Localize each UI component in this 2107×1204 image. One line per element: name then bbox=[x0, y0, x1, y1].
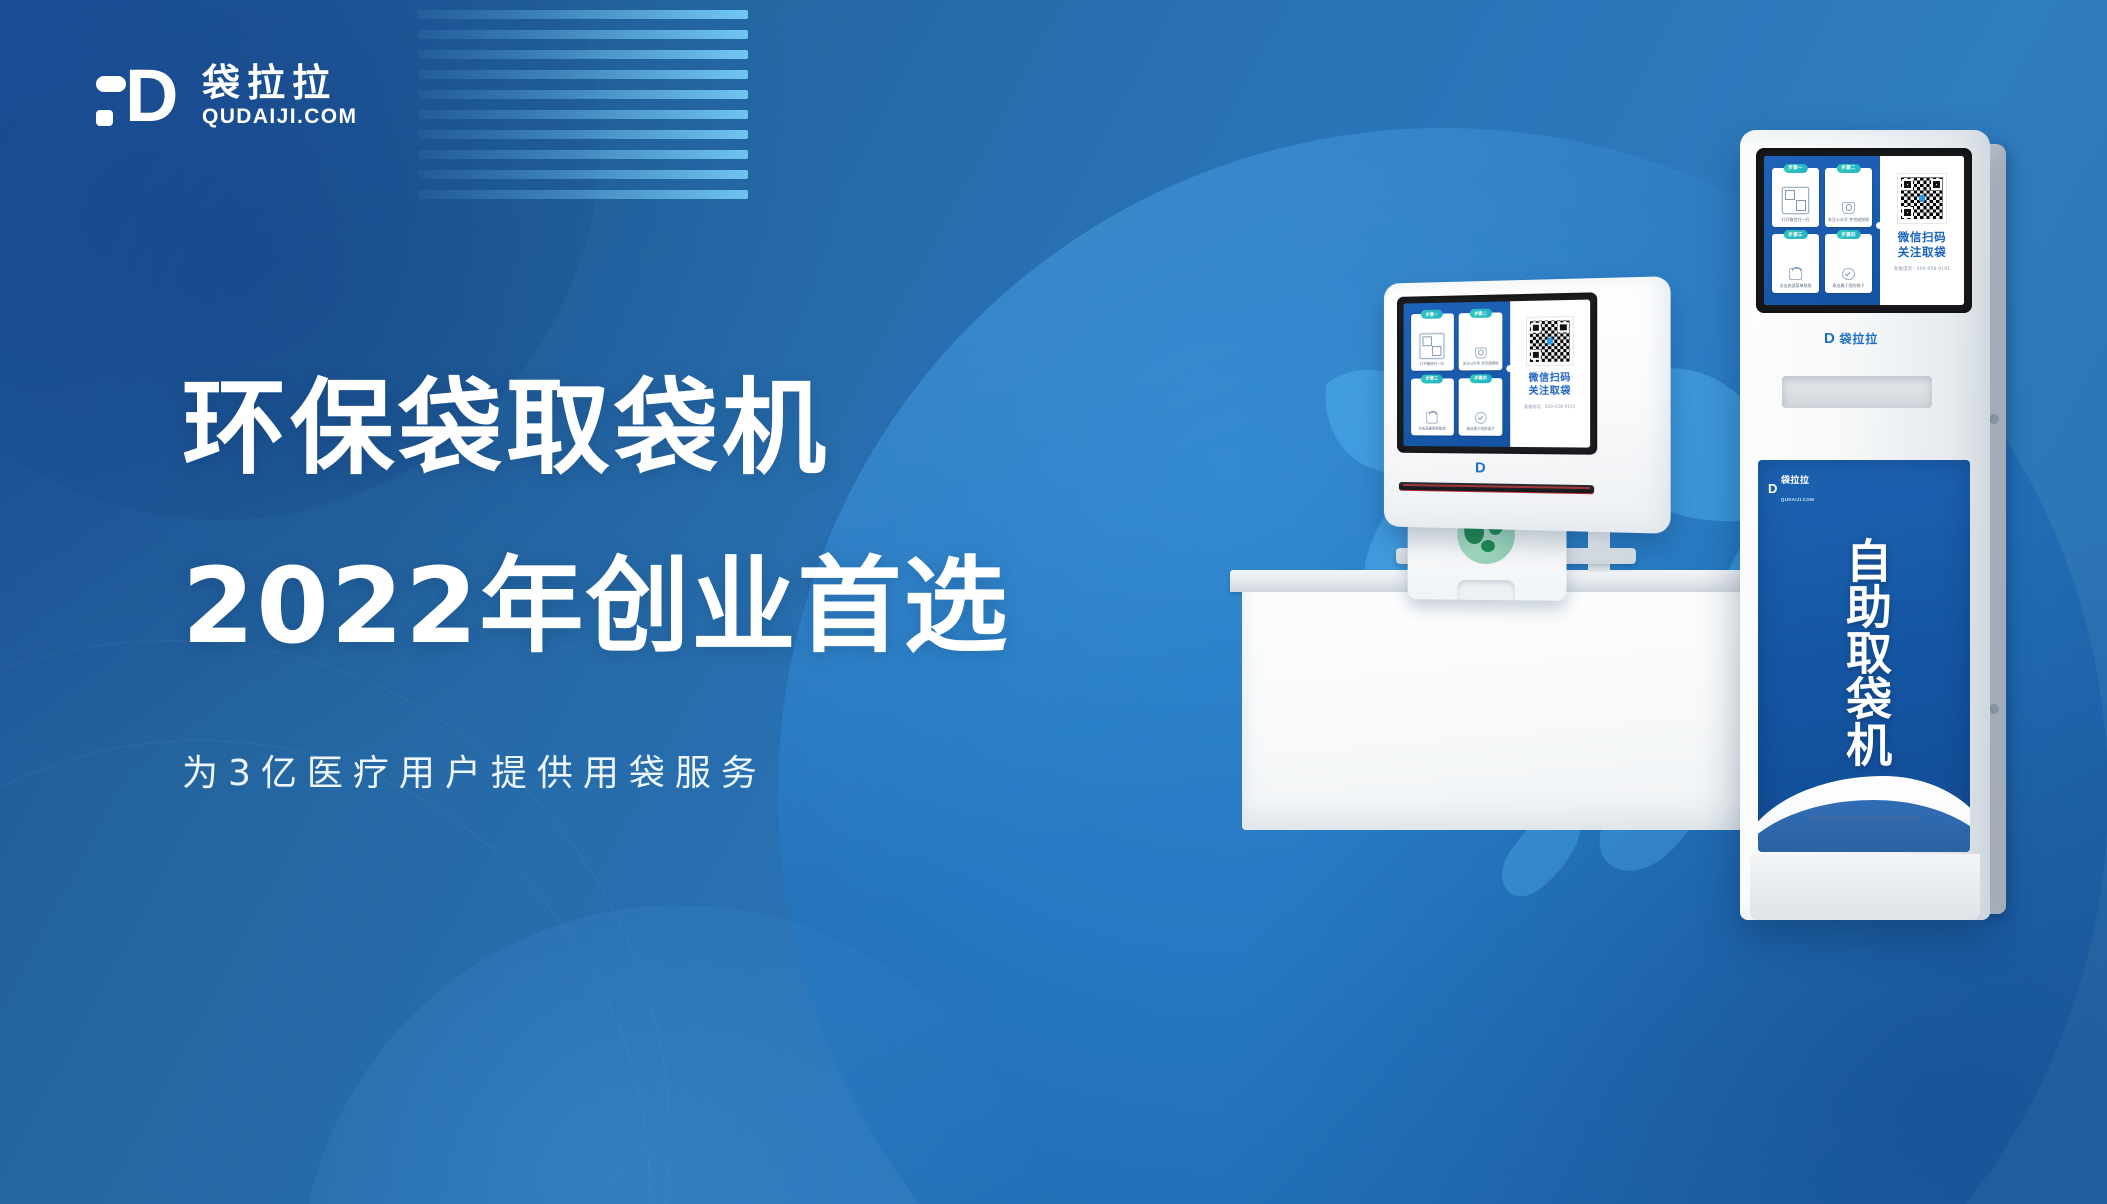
check-circle-icon bbox=[1475, 412, 1486, 424]
kiosk-logo-name: 袋拉拉 bbox=[1839, 330, 1878, 347]
step-tag: 步骤一 bbox=[1783, 164, 1807, 173]
step-caption: 点击底部菜单取袋 bbox=[1416, 426, 1448, 431]
hero-banner: D 袋拉拉 QUDAIJI.COM 环保袋取袋机 2022年创业首选 为3亿医疗… bbox=[0, 0, 2107, 1204]
product-scene: 爱护地球 环保先锋 步骤一 打开微信扫一扫 bbox=[1180, 140, 2100, 1140]
poster-brand-logo: D 袋拉拉 QUDAIJI.COM bbox=[1768, 470, 1814, 506]
logo-dot-shape bbox=[96, 110, 113, 126]
step-card[interactable]: 步骤一 打开微信扫一扫 bbox=[1411, 314, 1454, 371]
check-circle-icon bbox=[1842, 268, 1854, 280]
step-tag: 步骤四 bbox=[1836, 230, 1860, 239]
counter-body bbox=[1242, 592, 1782, 830]
logo-letter-d: D bbox=[125, 62, 182, 132]
step-tag: 步骤二 bbox=[1836, 164, 1860, 173]
screen-cta-line1: 微信扫码 bbox=[1898, 230, 1946, 245]
screen-cta-line2: 关注取袋 bbox=[1898, 245, 1946, 260]
kiosk-side-button-bottom[interactable] bbox=[1989, 704, 1999, 714]
logo-text-block: 袋拉拉 QUDAIJI.COM bbox=[202, 64, 357, 129]
screen-qr-panel: 微信扫码 关注取袋 客服电话：400-058-9191 bbox=[1880, 156, 1964, 305]
step-card[interactable]: 步骤二 关注公众号 并完成授权 bbox=[1459, 313, 1503, 371]
qr-code-icon bbox=[1420, 333, 1445, 359]
poster-logo-domain: QUDAIJI.COM bbox=[1781, 497, 1814, 502]
step-caption: 取出属于您的袋子 bbox=[1464, 426, 1497, 431]
kiosk-screen-bezel[interactable]: 步骤一 打开微信扫一扫 步骤二 关注公众号 并完成授权 步骤三 bbox=[1756, 148, 1972, 313]
hero-subline: 为3亿医疗用户提供用袋服务 bbox=[182, 744, 1009, 796]
striped-arc-decoration bbox=[418, 0, 748, 212]
poster-logo-name: 袋拉拉 bbox=[1781, 476, 1810, 486]
step-tag: 步骤二 bbox=[1469, 309, 1491, 318]
logo-mark-icon: D bbox=[96, 60, 182, 132]
bag-icon bbox=[1426, 412, 1437, 423]
step-caption: 关注公众号 并完成授权 bbox=[1460, 362, 1501, 367]
screen-steps-panel: 步骤一 打开微信扫一扫 步骤二 关注公众号 并完成授权 步骤三 bbox=[1404, 301, 1510, 447]
step-card[interactable]: 步骤四 取出属于您的袋子 bbox=[1825, 234, 1872, 293]
screen-cta: 微信扫码 关注取袋 bbox=[1529, 372, 1571, 399]
phone-auth-icon bbox=[1475, 347, 1486, 359]
step-card[interactable]: 步骤一 打开微信扫一扫 bbox=[1772, 168, 1819, 227]
desk-machine-screen-bezel[interactable]: 步骤一 打开微信扫一扫 步骤二 关注公众号 并完成授权 步骤三 bbox=[1397, 292, 1597, 454]
brand-logo[interactable]: D 袋拉拉 QUDAIJI.COM bbox=[96, 60, 357, 132]
step-caption: 点击底部菜单取袋 bbox=[1777, 283, 1815, 288]
step-tag: 步骤四 bbox=[1469, 374, 1491, 383]
screen-cta: 微信扫码 关注取袋 bbox=[1898, 230, 1946, 260]
wechat-qr-code[interactable] bbox=[1898, 174, 1947, 223]
hero-copy: 环保袋取袋机 2022年创业首选 为3亿医疗用户提供用袋服务 bbox=[182, 376, 1009, 796]
logo-domain: QUDAIJI.COM bbox=[202, 105, 357, 128]
kiosk-body: 步骤一 打开微信扫一扫 步骤二 关注公众号 并完成授权 步骤三 bbox=[1740, 130, 1990, 920]
kiosk-base bbox=[1750, 854, 1980, 920]
desk-machine-body: 步骤一 打开微信扫一扫 步骤二 关注公众号 并完成授权 步骤三 bbox=[1384, 276, 1671, 534]
screen-cta-line2: 关注取袋 bbox=[1529, 385, 1571, 398]
poster-footer-text: 全国统一服务热线：137-9690-0099 QUDAIJI.COM bbox=[1760, 816, 1968, 822]
step-card[interactable]: 步骤四 取出属于您的袋子 bbox=[1459, 378, 1503, 436]
kiosk-poster-panel: D 袋拉拉 QUDAIJI.COM 自助取袋机 全国统一服务热线：137-969… bbox=[1758, 460, 1970, 852]
hero-headline-line1: 环保袋取袋机 bbox=[182, 376, 1009, 480]
step-card[interactable]: 步骤三 点击底部菜单取袋 bbox=[1772, 234, 1819, 293]
step-caption: 打开微信扫一扫 bbox=[1418, 362, 1447, 367]
logo-name-cn: 袋拉拉 bbox=[202, 64, 357, 104]
step-caption: 关注公众号 并完成授权 bbox=[1825, 217, 1872, 222]
poster-logo-mark: D bbox=[1768, 481, 1777, 496]
hero-headline-line2: 2022年创业首选 bbox=[182, 554, 1009, 658]
kiosk-logo-mark: D bbox=[1824, 330, 1834, 347]
kiosk-screen[interactable]: 步骤一 打开微信扫一扫 步骤二 关注公众号 并完成授权 步骤三 bbox=[1764, 156, 1964, 305]
phone-auth-icon bbox=[1842, 202, 1854, 214]
bag-icon bbox=[1789, 268, 1801, 280]
step-tag: 步骤三 bbox=[1783, 230, 1807, 239]
screen-steps-panel: 步骤一 打开微信扫一扫 步骤二 关注公众号 并完成授权 步骤三 bbox=[1764, 156, 1880, 305]
step-caption: 取出属于您的袋子 bbox=[1830, 283, 1868, 288]
qr-code-icon bbox=[1782, 187, 1809, 214]
kiosk-brand-logo: D 袋拉拉 bbox=[1824, 330, 1878, 347]
screen-service-note: 客服电话：400-058-9191 bbox=[1524, 404, 1576, 410]
desk-machine-screen[interactable]: 步骤一 打开微信扫一扫 步骤二 关注公众号 并完成授权 步骤三 bbox=[1404, 300, 1591, 448]
desk-machine-dispense-slot bbox=[1399, 482, 1594, 494]
screen-cta-line1: 微信扫码 bbox=[1529, 372, 1571, 385]
step-tag: 步骤一 bbox=[1421, 310, 1443, 319]
floor-standing-kiosk: 步骤一 打开微信扫一扫 步骤二 关注公众号 并完成授权 步骤三 bbox=[1740, 130, 2010, 930]
step-tag: 步骤三 bbox=[1421, 374, 1443, 383]
step-card[interactable]: 步骤三 点击底部菜单取袋 bbox=[1411, 378, 1454, 435]
desk-machine-brand-mark: D bbox=[1475, 459, 1485, 476]
logo-dash-shape bbox=[96, 76, 126, 92]
bag-handle-notch bbox=[1457, 580, 1515, 601]
step-caption: 打开微信扫一扫 bbox=[1779, 217, 1813, 222]
countertop-dispenser: 爱护地球 环保先锋 步骤一 打开微信扫一扫 bbox=[1370, 270, 1670, 600]
screen-service-note: 客服电话：400-058-9191 bbox=[1894, 266, 1950, 272]
poster-vertical-title: 自助取袋机 bbox=[1836, 518, 1892, 786]
step-card[interactable]: 步骤二 关注公众号 并完成授权 bbox=[1825, 168, 1872, 227]
kiosk-side-button-top[interactable] bbox=[1989, 414, 1999, 424]
kiosk-dispense-opening bbox=[1782, 376, 1932, 408]
wechat-qr-code[interactable] bbox=[1527, 317, 1573, 364]
screen-qr-panel: 微信扫码 关注取袋 客服电话：400-058-9191 bbox=[1510, 300, 1590, 448]
